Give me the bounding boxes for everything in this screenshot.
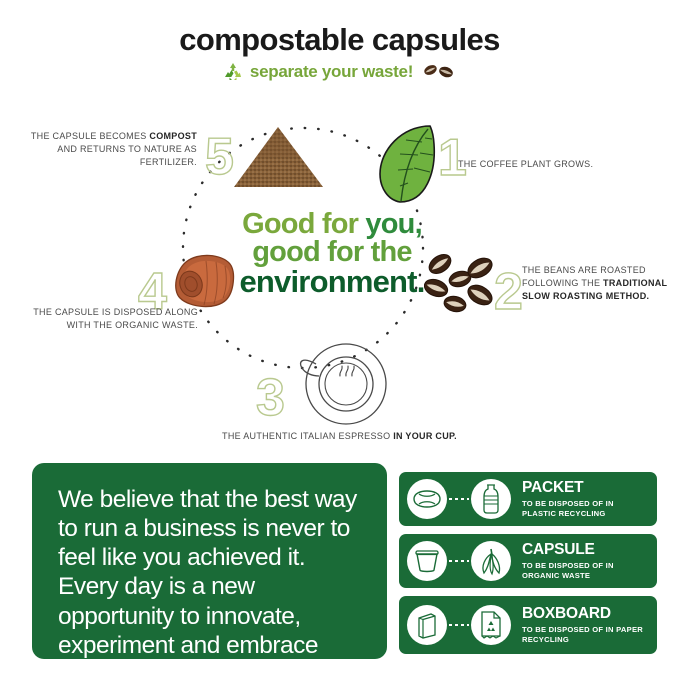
slogan-line-1: Good for you, <box>222 210 442 238</box>
quote-panel: We believe that the best way to run a bu… <box>32 463 387 659</box>
slogan-line-2: good for the <box>222 238 442 266</box>
step-3-caption-part1: THE AUTHENTIC ITALIAN ESPRESSO <box>222 431 393 441</box>
card-sub-boxboard-bold: PAPER <box>616 625 643 634</box>
card-title-capsule: CAPSULE <box>522 542 614 558</box>
slogan-line-1-a: Good for <box>242 208 365 240</box>
header: compostable capsules separate your waste… <box>0 24 679 81</box>
card-sub-packet: TO BE DISPOSED OF IN PLASTIC RECYCLING <box>522 499 614 518</box>
quote-text: We believe that the best way to run a bu… <box>58 485 361 689</box>
slogan-line-1-b: you, <box>365 208 421 240</box>
banana-peel-icon <box>471 541 511 581</box>
step-5-caption-part1: THE CAPSULE BECOMES <box>31 131 150 141</box>
step-3-caption-bold: IN YOUR CUP. <box>393 431 457 441</box>
espresso-cup-icon <box>288 338 398 428</box>
card-text-capsule: CAPSULE TO BE DISPOSED OF IN ORGANIC WAS… <box>522 542 614 581</box>
plastic-bottle-icon <box>471 479 511 519</box>
recycle-icon <box>223 62 243 81</box>
step-5-caption-part2: AND RETURNS TO NATURE AS FERTILIZER. <box>57 144 197 167</box>
step-4-caption: THE CAPSULE IS DISPOSED ALONG WITH THE O… <box>18 306 198 332</box>
subtitle-row: separate your waste! <box>0 61 679 81</box>
disposal-card-packet[interactable]: PACKET TO BE DISPOSED OF IN PLASTIC RECY… <box>399 472 657 526</box>
slogan-line-3: environment. <box>222 267 442 297</box>
disposal-cards: PACKET TO BE DISPOSED OF IN PLASTIC RECY… <box>399 472 657 662</box>
center-slogan: Good for you, good for the environment. <box>222 210 442 297</box>
card-sub-capsule-a: TO BE DISPOSED OF IN <box>522 561 614 570</box>
boxboard-box-icon <box>407 605 447 645</box>
card-text-packet: PACKET TO BE DISPOSED OF IN PLASTIC RECY… <box>522 480 614 519</box>
card-connector-dash <box>449 498 469 500</box>
leaf-icon <box>378 122 440 206</box>
lifecycle-diagram: 5 THE CAPSULE BECOMES COMPOST AND RETURN… <box>0 100 679 455</box>
card-connector-dash <box>449 560 469 562</box>
step-2-caption: THE BEANS ARE ROASTED FOLLOWING THE TRAD… <box>522 264 674 303</box>
card-sub-boxboard-a: TO BE DISPOSED OF IN <box>522 625 616 634</box>
page-title: compostable capsules <box>179 24 500 55</box>
card-sub-capsule-b: ORGANIC WASTE <box>522 571 590 580</box>
step-1-caption: THE COFFEE PLANT GROWS. <box>458 158 658 171</box>
step-5-caption-bold: COMPOST <box>149 131 197 141</box>
card-sub-packet-a: TO BE DISPOSED OF IN <box>522 499 614 508</box>
disposal-card-capsule[interactable]: CAPSULE TO BE DISPOSED OF IN ORGANIC WAS… <box>399 534 657 588</box>
card-text-boxboard: BOXBOARD TO BE DISPOSED OF IN PAPER RECY… <box>522 606 643 645</box>
card-sub-boxboard-b: RECYCLING <box>522 635 569 644</box>
coffee-beans-icon <box>422 61 456 81</box>
card-sub-capsule: TO BE DISPOSED OF IN ORGANIC WASTE <box>522 561 614 580</box>
infographic-root: compostable capsules separate your waste… <box>0 0 679 679</box>
card-title-boxboard: BOXBOARD <box>522 606 643 622</box>
step-2-number: 2 <box>494 266 523 318</box>
paper-recycle-icon <box>471 605 511 645</box>
compost-pile-icon <box>230 125 326 191</box>
card-connector-dash <box>449 624 469 626</box>
disposal-card-boxboard[interactable]: BOXBOARD TO BE DISPOSED OF IN PAPER RECY… <box>399 596 657 654</box>
step-5-caption: THE CAPSULE BECOMES COMPOST AND RETURNS … <box>22 130 197 169</box>
card-sub-packet-b: PLASTIC RECYCLING <box>522 509 606 518</box>
step-3-number: 3 <box>256 372 285 424</box>
coffee-packet-icon <box>407 479 447 519</box>
coffee-capsule-icon <box>407 541 447 581</box>
step-3-caption: THE AUTHENTIC ITALIAN ESPRESSO IN YOUR C… <box>0 430 679 443</box>
card-sub-boxboard: TO BE DISPOSED OF IN PAPER RECYCLING <box>522 625 643 644</box>
page-subtitle: separate your waste! <box>250 63 413 80</box>
card-title-packet: PACKET <box>522 480 614 496</box>
